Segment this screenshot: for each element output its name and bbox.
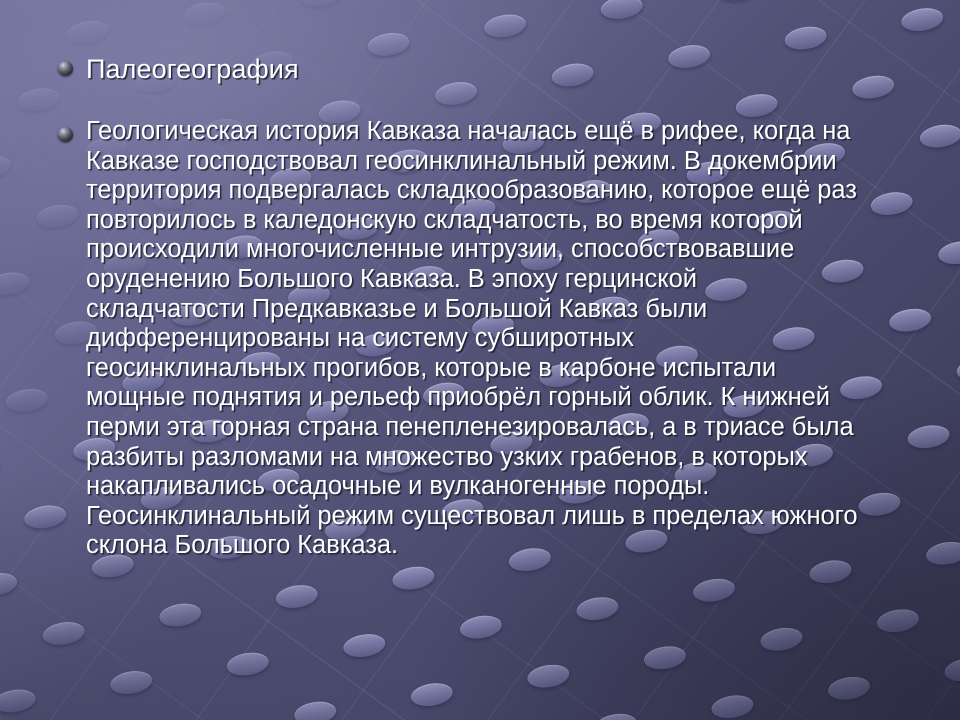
sphere-bullet-icon [58,61,73,76]
title-bullet-item: Палеогеография [58,52,918,86]
body-line: оруденению Большого Кавказа. В эпоху гер… [86,265,924,295]
sphere-bullet-icon [58,127,73,142]
slide-title: Палеогеография [86,52,299,86]
body-line: разбиты разломами на множество узких гра… [86,443,924,473]
body-line: дифференцированы на систему субширотных [86,324,924,354]
body-line: повторилось в каледонскую складчатость, … [86,206,924,236]
body-line: Геосинклинальный режим существовал лишь … [86,502,924,532]
body-line: геосинклинальных прогибов, которые в кар… [86,354,924,384]
body-bullet-item: Геологическая история Кавказа началась е… [58,117,938,561]
body-line: перми эта горная страна пенепленезировал… [86,413,924,443]
body-line: мощные поднятия и рельеф приобрёл горный… [86,383,924,413]
body-line: Геологическая история Кавказа началась е… [86,117,924,147]
body-line: происходили многочисленные интрузии, спо… [86,235,924,265]
body-line: территория подвергалась складкообразован… [86,176,924,206]
body-line: Кавказе господствовал геосинклинальный р… [86,147,924,177]
body-line: склона Большого Кавказа. [86,531,924,561]
slide-content: Палеогеография Геологическая история Кав… [0,0,960,720]
body-line: накапливались осадочные и вулканогенные … [86,472,924,502]
slide-body-paragraph: Геологическая история Кавказа началась е… [86,117,924,561]
presentation-slide: Палеогеография Геологическая история Кав… [0,0,960,720]
body-line: складчатости Предкавказье и Большой Кавк… [86,295,924,325]
